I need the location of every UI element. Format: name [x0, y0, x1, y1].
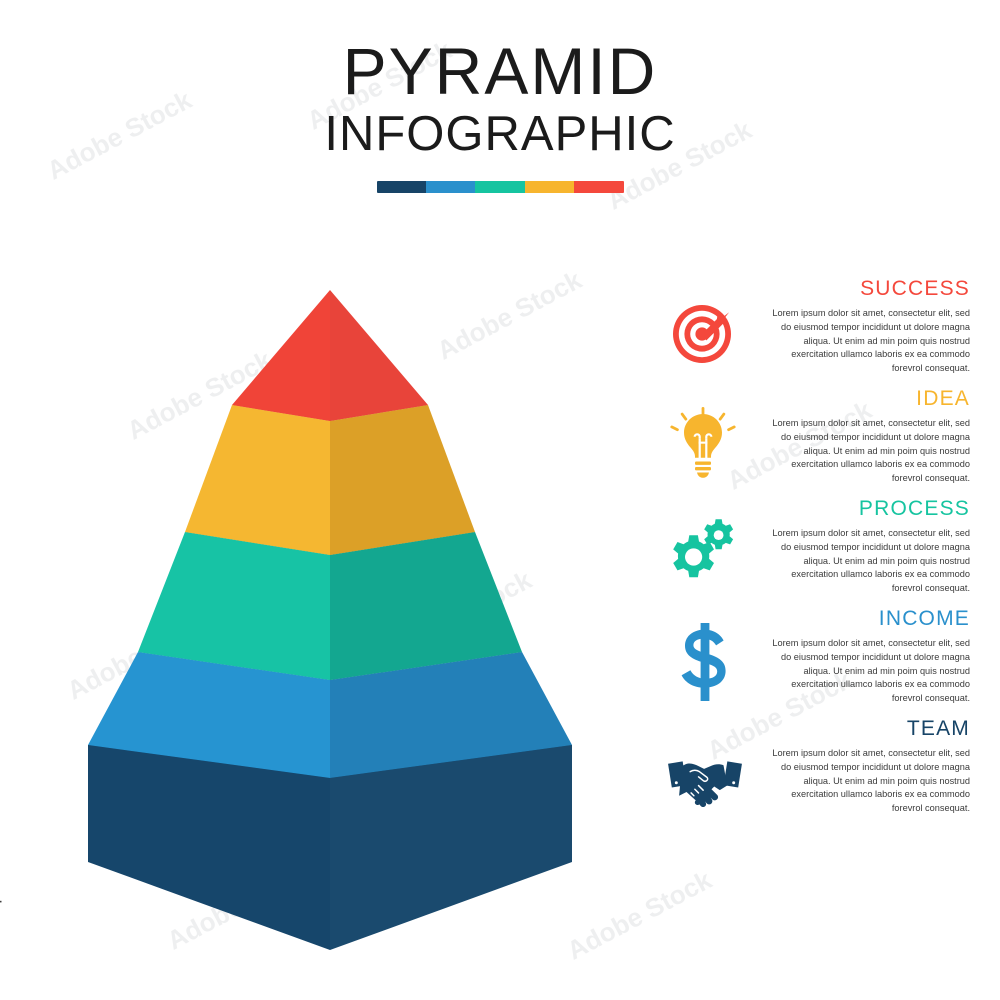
title-block: PYRAMID INFOGRAPHIC: [0, 38, 1000, 193]
pyramid-level-success-left-face: [232, 290, 330, 421]
infographic-canvas: Adobe Stock Adobe Stock Adobe Stock Adob…: [0, 0, 1000, 1000]
accent-bar-segment-1: [377, 181, 426, 193]
page-title-line1: PYRAMID: [0, 38, 1000, 105]
legend-item-income-title: INCOME: [768, 607, 970, 630]
legend-item-success-body: SUCCESS Lorem ipsum dolor sit amet, cons…: [768, 277, 970, 376]
gears-icon: [668, 515, 742, 589]
legend-item-team-title: TEAM: [768, 717, 970, 740]
target-icon: [668, 295, 742, 369]
page-title-line2: INFOGRAPHIC: [0, 105, 1000, 165]
legend-item-idea-body: IDEA Lorem ipsum dolor sit amet, consect…: [768, 387, 970, 486]
pyramid-level-idea-right-face: [330, 405, 475, 555]
legend-item-team-body: TEAM Lorem ipsum dolor sit amet, consect…: [768, 717, 970, 816]
dollar-icon: [668, 625, 742, 699]
legend-item-team-text: Lorem ipsum dolor sit amet, consectetur …: [768, 747, 970, 816]
handshake-icon: [668, 743, 742, 817]
legend-item-success-text: Lorem ipsum dolor sit amet, consectetur …: [768, 307, 970, 376]
legend-item-process-title: PROCESS: [768, 497, 970, 520]
legend-list: SUCCESS Lorem ipsum dolor sit amet, cons…: [660, 277, 970, 827]
legend-item-success[interactable]: SUCCESS Lorem ipsum dolor sit amet, cons…: [660, 277, 970, 387]
accent-bar-segment-4: [525, 181, 574, 193]
legend-item-income[interactable]: INCOME Lorem ipsum dolor sit amet, conse…: [660, 607, 970, 717]
legend-item-idea-title: IDEA: [768, 387, 970, 410]
legend-item-idea-text: Lorem ipsum dolor sit amet, consectetur …: [768, 417, 970, 486]
pyramid-level-team-right-face: [330, 745, 572, 950]
legend-item-process[interactable]: PROCESS Lorem ipsum dolor sit amet, cons…: [660, 497, 970, 607]
lightbulb-icon: [668, 405, 742, 479]
legend-item-success-title: SUCCESS: [768, 277, 970, 300]
accent-bar-segment-5: [574, 181, 623, 193]
stock-watermark-label: Adobe Stock | #468810511: [0, 823, 2, 988]
legend-item-idea[interactable]: IDEA Lorem ipsum dolor sit amet, consect…: [660, 387, 970, 497]
accent-bar-segment-2: [426, 181, 475, 193]
pyramid-level-idea-left-face: [185, 405, 330, 555]
legend-item-income-text: Lorem ipsum dolor sit amet, consectetur …: [768, 637, 970, 706]
pyramid-diagram: [40, 270, 640, 970]
legend-item-process-text: Lorem ipsum dolor sit amet, consectetur …: [768, 527, 970, 596]
accent-color-bar: [377, 181, 624, 193]
accent-bar-segment-3: [475, 181, 524, 193]
pyramid-level-team-left-face: [88, 745, 330, 950]
legend-item-process-body: PROCESS Lorem ipsum dolor sit amet, cons…: [768, 497, 970, 596]
legend-item-team[interactable]: TEAM Lorem ipsum dolor sit amet, consect…: [660, 717, 970, 827]
pyramid-level-success[interactable]: [232, 290, 428, 421]
legend-item-income-body: INCOME Lorem ipsum dolor sit amet, conse…: [768, 607, 970, 706]
pyramid-level-success-right-face: [330, 290, 428, 421]
